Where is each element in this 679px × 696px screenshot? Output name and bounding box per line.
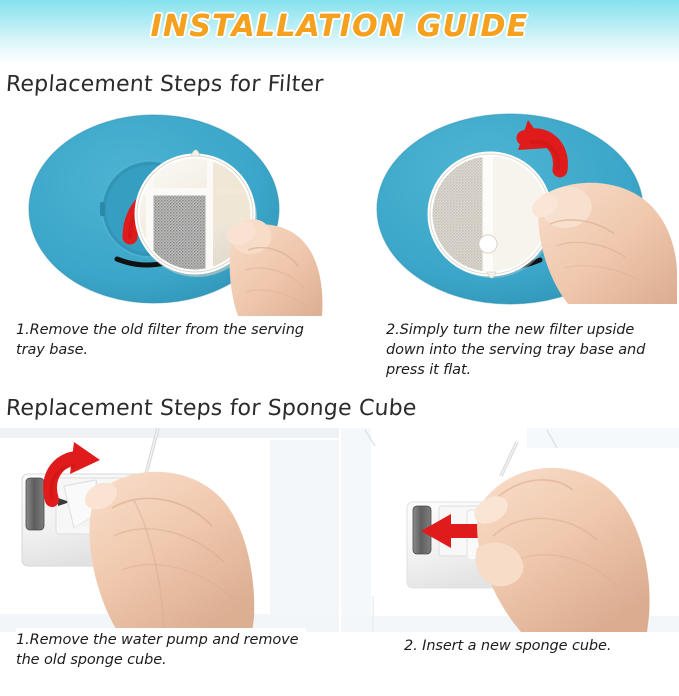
photo-remove-old-filter	[2, 104, 338, 316]
page-title-fill: INSTALLATION GUIDE	[0, 9, 679, 44]
photo-install-new-filter	[342, 104, 677, 316]
section-heading-sponge: Replacement Steps for Sponge Cube	[5, 396, 417, 421]
photo-remove-old-sponge	[0, 428, 339, 632]
caption-step-2-sponge: 2. Insert a new sponge cube.	[404, 634, 674, 660]
installation-guide-page: INSTALLATION GUIDE INSTALLATION GUIDE Re…	[0, 0, 679, 696]
header-banner: INSTALLATION GUIDE INSTALLATION GUIDE	[0, 0, 679, 64]
caption-step-2-filter: 2.Simply turn the new filter upside down…	[386, 320, 671, 380]
section-heading-filter: Replacement Steps for Filter	[5, 72, 324, 97]
caption-step-1-filter: 1.Remove the old filter from the serving…	[16, 320, 316, 360]
caption-step-1-sponge: 1.Remove the water pump and remove the o…	[16, 628, 306, 674]
photo-insert-new-sponge	[341, 428, 679, 632]
